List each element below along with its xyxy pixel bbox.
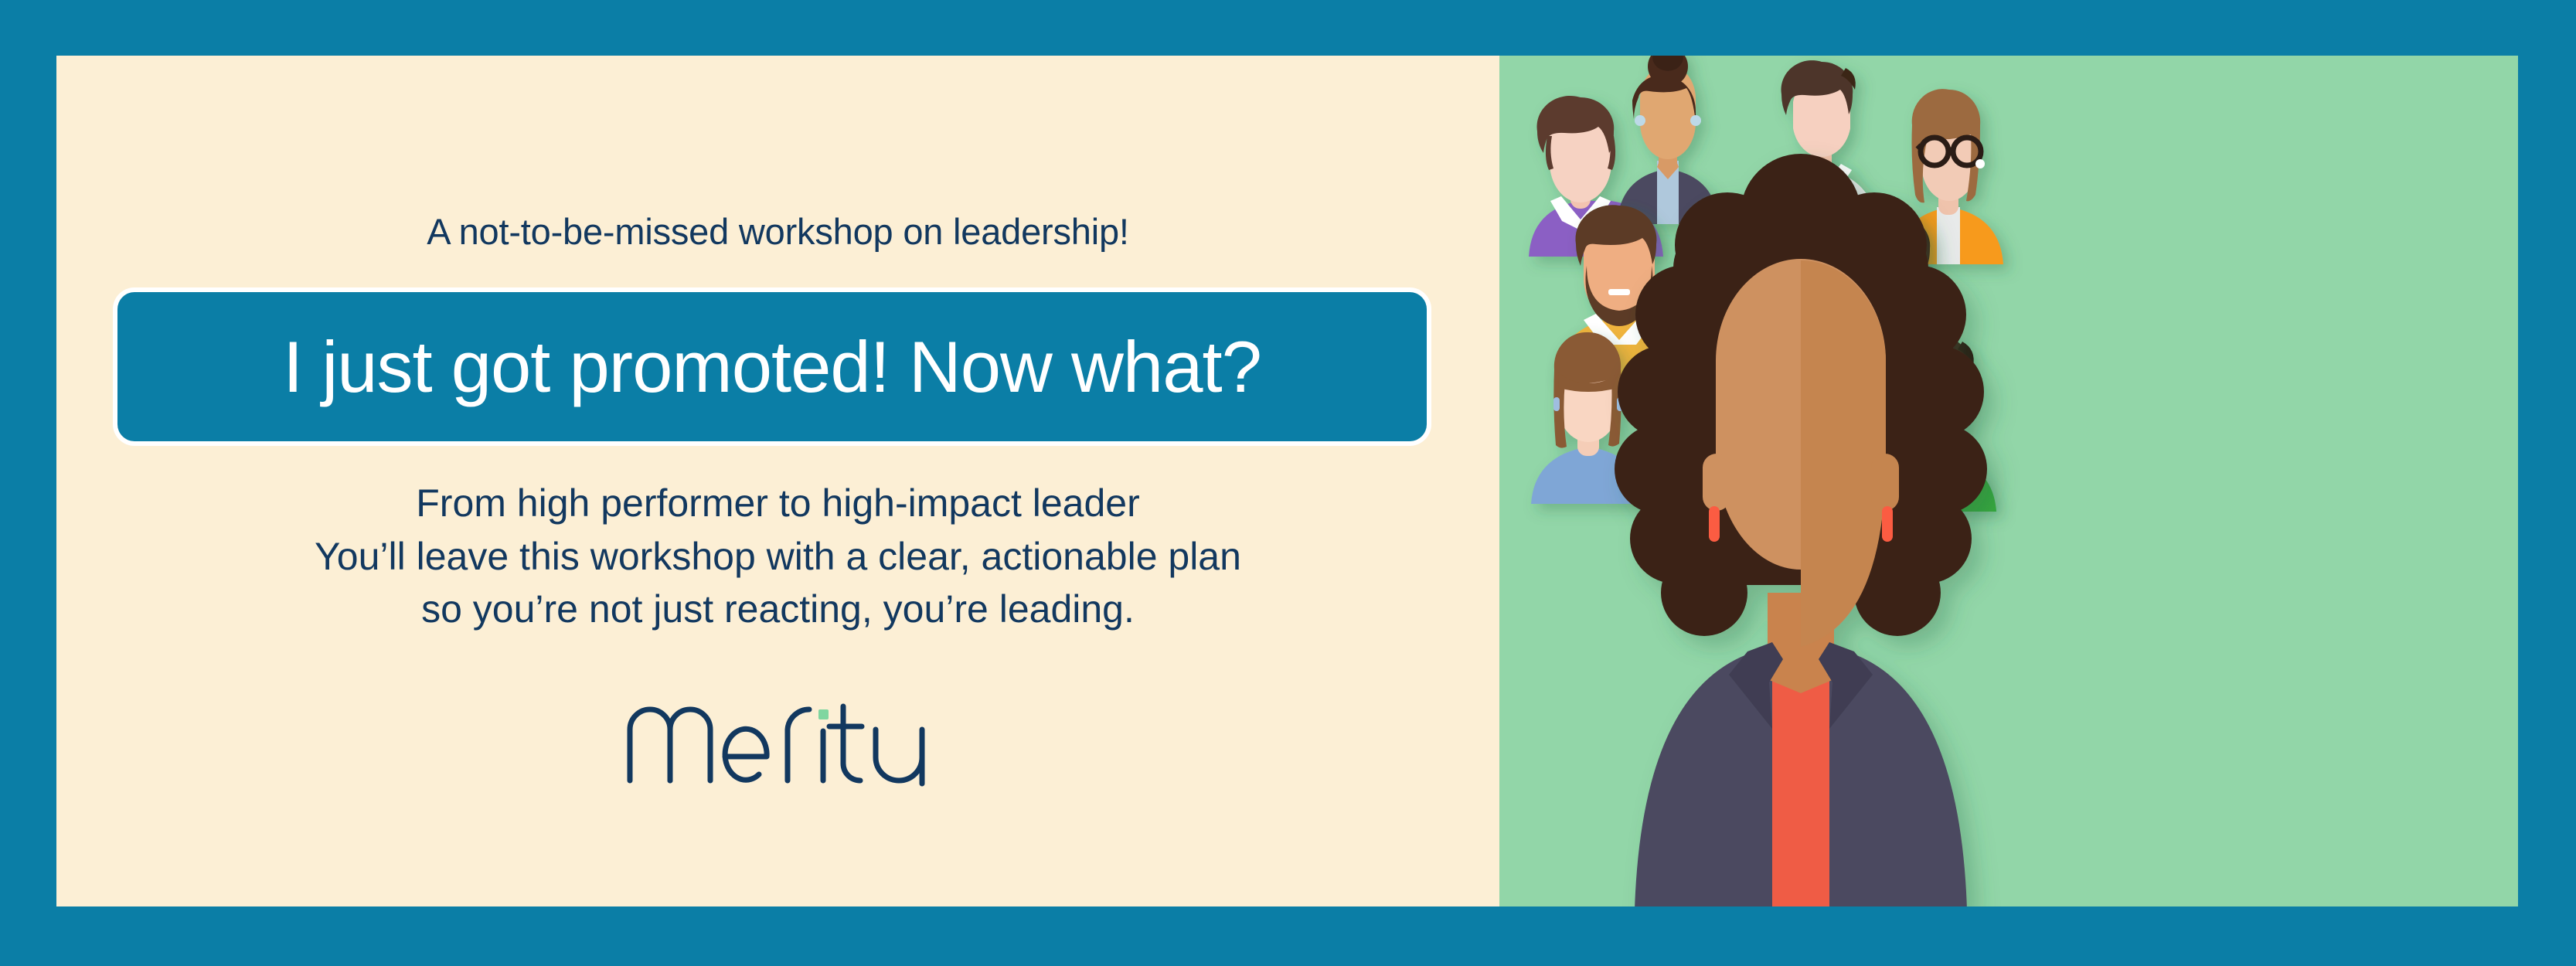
workshop-banner: A not-to-be-missed workshop on leadershi… [0,0,2576,966]
merity-wordmark-icon [624,682,933,790]
text-panel: A not-to-be-missed workshop on leadershi… [56,56,1499,906]
body-line-3: so you’re not just reacting, you’re lead… [56,583,1499,636]
body-copy: From high performer to high-impact leade… [56,477,1499,636]
avatar-group [1499,56,2518,906]
avatar-center-woman-afro [1604,129,1998,906]
body-line-2: You’ll leave this workshop with a clear,… [56,530,1499,583]
headline-band: I just got promoted! Now what? [117,292,1427,441]
eyebrow-text: A not-to-be-missed workshop on leadershi… [56,210,1499,253]
merity-logo [56,682,1499,790]
headline-text: I just got promoted! Now what? [283,331,1261,403]
illustration-panel [1499,56,2518,906]
body-line-1: From high performer to high-impact leade… [56,477,1499,530]
